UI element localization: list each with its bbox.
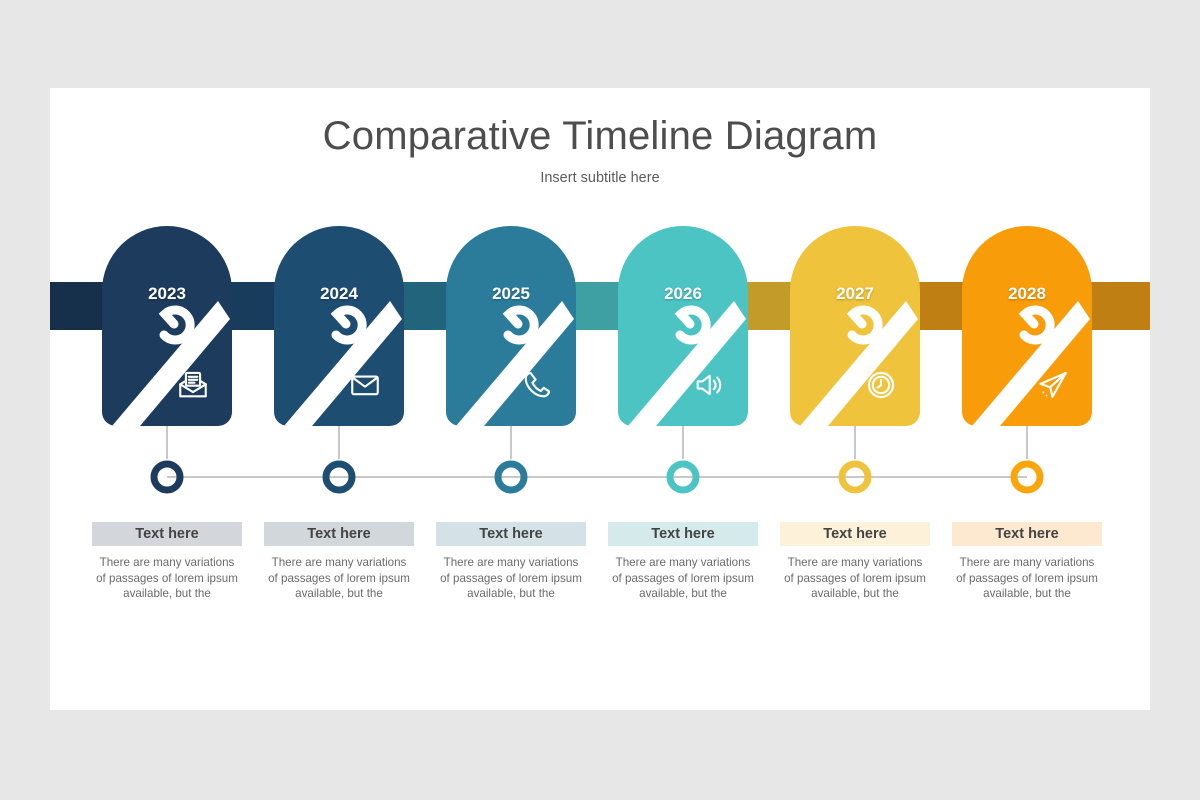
- timeline-text-column: Text hereThere are many variations of pa…: [608, 522, 758, 602]
- timeline-text-column: Text hereThere are many variations of pa…: [92, 522, 242, 602]
- column-body-text: There are many variations of passages of…: [952, 555, 1102, 602]
- column-body-text: There are many variations of passages of…: [92, 555, 242, 602]
- slide-canvas: Comparative Timeline Diagram Insert subt…: [50, 88, 1150, 710]
- timeline-card[interactable]: 2025: [446, 226, 576, 426]
- timeline-card[interactable]: 2023: [102, 226, 232, 426]
- timeline-text-column: Text hereThere are many variations of pa…: [264, 522, 414, 602]
- column-label[interactable]: Text here: [436, 522, 586, 546]
- column-label[interactable]: Text here: [92, 522, 242, 546]
- timeline-text-column: Text hereThere are many variations of pa…: [436, 522, 586, 602]
- column-label[interactable]: Text here: [952, 522, 1102, 546]
- column-body-text: There are many variations of passages of…: [608, 555, 758, 602]
- timeline-text-column: Text hereThere are many variations of pa…: [780, 522, 930, 602]
- column-body-text: There are many variations of passages of…: [264, 555, 414, 602]
- timeline-cards: 202320242025202620272028: [50, 88, 1150, 710]
- column-body-text: There are many variations of passages of…: [780, 555, 930, 602]
- column-label[interactable]: Text here: [608, 522, 758, 546]
- timeline-card[interactable]: 2026: [618, 226, 748, 426]
- timeline-card[interactable]: 2024: [274, 226, 404, 426]
- column-label[interactable]: Text here: [780, 522, 930, 546]
- timeline-card[interactable]: 2027: [790, 226, 920, 426]
- timeline-card[interactable]: 2028: [962, 226, 1092, 426]
- column-body-text: There are many variations of passages of…: [436, 555, 586, 602]
- column-label[interactable]: Text here: [264, 522, 414, 546]
- timeline-text-column: Text hereThere are many variations of pa…: [952, 522, 1102, 602]
